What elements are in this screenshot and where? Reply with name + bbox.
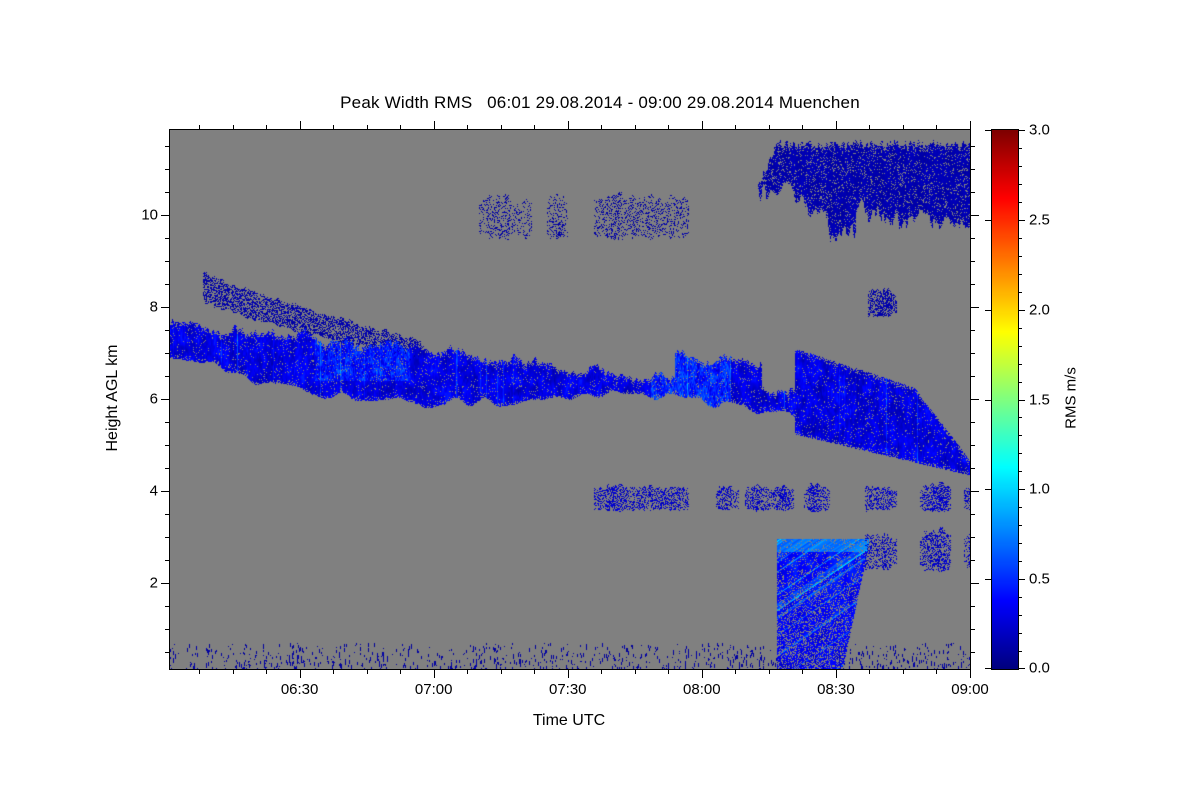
colorbar-major-tick-inner (985, 130, 992, 131)
y-axis-tick-label: 10 (141, 207, 158, 224)
colorbar-major-tick (1018, 400, 1025, 401)
colorbar-major-tick (1018, 310, 1025, 311)
colorbar-title: RMS m/s (1063, 367, 1080, 429)
x-axis-minor-tick (266, 125, 267, 130)
y-axis-minor-tick (165, 606, 170, 607)
x-axis-minor-tick (601, 669, 602, 674)
x-axis-major-tick (300, 669, 301, 678)
y-axis-minor-tick (165, 376, 170, 377)
x-axis-tick-label: 06:30 (281, 681, 319, 698)
y-axis-major-tick (970, 399, 979, 400)
colorbar-major-tick-inner (985, 400, 992, 401)
x-axis-minor-tick (333, 125, 334, 130)
colorbar[interactable]: 0.00.51.01.52.02.53.0 (991, 129, 1019, 670)
x-axis-minor-tick (367, 669, 368, 674)
y-axis-minor-tick (970, 238, 975, 239)
y-axis-major-tick (970, 307, 979, 308)
x-axis-minor-tick (534, 125, 535, 130)
x-axis-minor-tick (635, 125, 636, 130)
colorbar-tick-label: 2.5 (1029, 211, 1050, 228)
y-axis-minor-tick (165, 261, 170, 262)
y-axis-minor-tick (165, 537, 170, 538)
y-axis-minor-tick (970, 560, 975, 561)
colorbar-minor-tick (1018, 346, 1022, 347)
y-axis-tick-label: 6 (150, 390, 158, 407)
colorbar-minor-tick (1018, 633, 1022, 634)
x-axis-minor-tick (903, 669, 904, 674)
y-axis-major-tick (161, 307, 170, 308)
y-axis-minor-tick (970, 468, 975, 469)
colorbar-minor-tick (1018, 471, 1022, 472)
x-axis-major-tick (970, 669, 971, 678)
x-axis-minor-tick (936, 669, 937, 674)
x-axis-major-tick (836, 669, 837, 678)
colorbar-major-tick (1018, 668, 1025, 669)
colorbar-gradient (992, 130, 1018, 669)
x-axis-minor-tick (534, 669, 535, 674)
colorbar-tick-label: 0.5 (1029, 571, 1050, 588)
y-axis-minor-tick (165, 514, 170, 515)
y-axis-minor-tick (165, 652, 170, 653)
colorbar-minor-tick (1018, 597, 1022, 598)
colorbar-minor-tick (1018, 435, 1022, 436)
colorbar-minor-tick (1018, 364, 1022, 365)
x-axis-major-tick (568, 121, 569, 130)
y-axis-major-tick (970, 215, 979, 216)
y-axis-minor-tick (165, 353, 170, 354)
x-axis-minor-tick (735, 125, 736, 130)
heatmap-canvas (170, 130, 970, 669)
x-axis-minor-tick (501, 125, 502, 130)
x-axis-minor-tick (869, 669, 870, 674)
colorbar-major-tick (1018, 489, 1025, 490)
x-axis-minor-tick (635, 669, 636, 674)
y-axis-minor-tick (165, 146, 170, 147)
x-axis-major-tick (434, 121, 435, 130)
x-axis-minor-tick (199, 125, 200, 130)
colorbar-minor-tick (1018, 382, 1022, 383)
x-axis-major-tick (434, 669, 435, 678)
y-axis-minor-tick (165, 169, 170, 170)
y-axis-minor-tick (970, 146, 975, 147)
y-axis-minor-tick (970, 514, 975, 515)
y-axis-minor-tick (970, 422, 975, 423)
colorbar-minor-tick (1018, 453, 1022, 454)
x-axis-minor-tick (735, 669, 736, 674)
x-axis-major-tick (970, 121, 971, 130)
x-axis-minor-tick (333, 669, 334, 674)
y-axis-minor-tick (165, 192, 170, 193)
colorbar-major-tick-inner (985, 489, 992, 490)
x-axis-major-tick (702, 121, 703, 130)
x-axis-minor-tick (936, 125, 937, 130)
colorbar-major-tick (1018, 220, 1025, 221)
y-axis-minor-tick (165, 468, 170, 469)
x-axis-minor-tick (400, 125, 401, 130)
y-axis-major-tick (161, 491, 170, 492)
figure-canvas: Peak Width RMS 06:01 29.08.2014 - 09:00 … (0, 0, 1200, 800)
colorbar-major-tick-inner (985, 310, 992, 311)
x-axis-label: Time UTC (533, 712, 605, 730)
x-axis-minor-tick (266, 669, 267, 674)
x-axis-tick-label: 09:00 (951, 681, 989, 698)
colorbar-minor-tick (1018, 256, 1022, 257)
colorbar-minor-tick (1018, 184, 1022, 185)
y-axis-minor-tick (165, 445, 170, 446)
colorbar-minor-tick (1018, 561, 1022, 562)
y-axis-minor-tick (165, 629, 170, 630)
x-axis-minor-tick (467, 125, 468, 130)
x-axis-minor-tick (769, 669, 770, 674)
colorbar-minor-tick (1018, 202, 1022, 203)
colorbar-minor-tick (1018, 292, 1022, 293)
y-axis-label: Height AGL km (104, 344, 122, 451)
colorbar-minor-tick (1018, 543, 1022, 544)
x-axis-major-tick (702, 669, 703, 678)
x-axis-minor-tick (802, 669, 803, 674)
y-axis-minor-tick (165, 238, 170, 239)
x-axis-minor-tick (869, 125, 870, 130)
x-axis-minor-tick (501, 669, 502, 674)
x-axis-major-tick (300, 121, 301, 130)
y-axis-major-tick (161, 583, 170, 584)
y-axis-minor-tick (165, 330, 170, 331)
y-axis-minor-tick (970, 629, 975, 630)
page-title: Peak Width RMS 06:01 29.08.2014 - 09:00 … (0, 93, 1200, 113)
x-axis-minor-tick (903, 125, 904, 130)
y-axis-minor-tick (970, 376, 975, 377)
y-axis-tick-label: 2 (150, 574, 158, 591)
y-axis-minor-tick (165, 560, 170, 561)
y-axis-tick-label: 4 (150, 482, 158, 499)
x-axis-minor-tick (802, 125, 803, 130)
colorbar-minor-tick (1018, 525, 1022, 526)
y-axis-minor-tick (970, 606, 975, 607)
y-axis-major-tick (970, 583, 979, 584)
y-axis-minor-tick (970, 445, 975, 446)
x-axis-minor-tick (668, 125, 669, 130)
colorbar-minor-tick (1018, 615, 1022, 616)
y-axis-major-tick (161, 399, 170, 400)
x-axis-tick-label: 08:30 (817, 681, 855, 698)
colorbar-tick-label: 3.0 (1029, 122, 1050, 139)
colorbar-minor-tick (1018, 148, 1022, 149)
y-axis-minor-tick (970, 330, 975, 331)
x-axis-major-tick (568, 669, 569, 678)
colorbar-tick-label: 0.0 (1029, 660, 1050, 677)
y-axis-minor-tick (970, 169, 975, 170)
colorbar-minor-tick (1018, 238, 1022, 239)
y-axis-minor-tick (970, 192, 975, 193)
x-axis-minor-tick (668, 669, 669, 674)
x-axis-minor-tick (400, 669, 401, 674)
colorbar-tick-label: 2.0 (1029, 301, 1050, 318)
y-axis-minor-tick (970, 261, 975, 262)
colorbar-major-tick (1018, 579, 1025, 580)
colorbar-minor-tick (1018, 328, 1022, 329)
y-axis-minor-tick (970, 353, 975, 354)
x-axis-tick-label: 07:30 (549, 681, 587, 698)
x-axis-tick-label: 07:00 (415, 681, 453, 698)
y-axis-minor-tick (970, 537, 975, 538)
y-axis-minor-tick (165, 422, 170, 423)
time-height-plot-area[interactable]: 246810 06:3007:0007:3008:0008:3009:00 (169, 129, 971, 670)
colorbar-major-tick (1018, 130, 1025, 131)
colorbar-minor-tick (1018, 274, 1022, 275)
y-axis-tick-label: 8 (150, 298, 158, 315)
x-axis-major-tick (836, 121, 837, 130)
y-axis-major-tick (970, 491, 979, 492)
colorbar-tick-label: 1.5 (1029, 391, 1050, 408)
x-axis-minor-tick (233, 125, 234, 130)
x-axis-minor-tick (769, 125, 770, 130)
x-axis-minor-tick (367, 125, 368, 130)
y-axis-minor-tick (165, 284, 170, 285)
x-axis-minor-tick (199, 669, 200, 674)
x-axis-tick-label: 08:00 (683, 681, 721, 698)
colorbar-minor-tick (1018, 651, 1022, 652)
colorbar-minor-tick (1018, 166, 1022, 167)
x-axis-minor-tick (467, 669, 468, 674)
colorbar-major-tick-inner (985, 668, 992, 669)
y-axis-major-tick (161, 215, 170, 216)
colorbar-major-tick-inner (985, 579, 992, 580)
colorbar-major-tick-inner (985, 220, 992, 221)
y-axis-minor-tick (970, 284, 975, 285)
x-axis-minor-tick (601, 125, 602, 130)
x-axis-minor-tick (233, 669, 234, 674)
colorbar-tick-label: 1.0 (1029, 481, 1050, 498)
colorbar-minor-tick (1018, 507, 1022, 508)
y-axis-minor-tick (970, 652, 975, 653)
colorbar-minor-tick (1018, 417, 1022, 418)
